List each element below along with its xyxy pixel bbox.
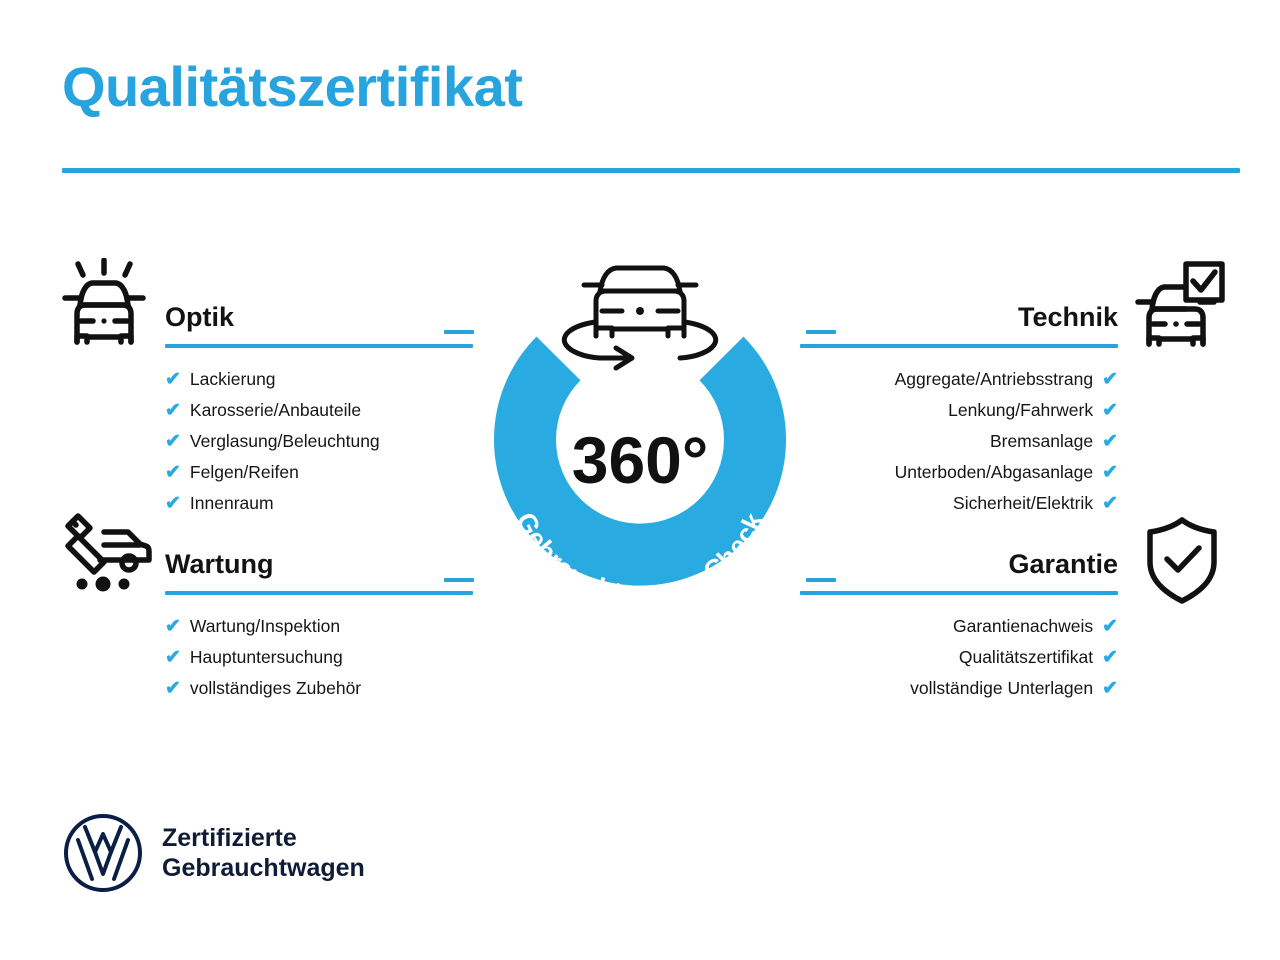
section-divider-garantie xyxy=(800,591,1118,595)
section-technik: Technik Aggregate/Antriebsstrang ✔ Lenku… xyxy=(800,300,1118,519)
section-head-technik: Technik xyxy=(800,300,1118,348)
list-item-label: Hauptuntersuchung xyxy=(190,642,343,672)
section-divider-technik xyxy=(800,344,1118,348)
list-item-label: Aggregate/Antriebsstrang xyxy=(895,364,1093,394)
list-item-label: Lackierung xyxy=(190,364,276,394)
header-divider xyxy=(62,168,1240,173)
check-icon: ✔ xyxy=(1102,643,1118,673)
list-item-label: Qualitätszertifikat xyxy=(959,642,1093,672)
list-item-label: Garantienachweis xyxy=(953,611,1093,641)
section-head-garantie: Garantie xyxy=(800,547,1118,595)
list-item-label: vollständige Unterlagen xyxy=(910,673,1093,703)
check-icon: ✔ xyxy=(165,427,181,457)
check-icon: ✔ xyxy=(165,458,181,488)
list-item: Aggregate/Antriebsstrang ✔ xyxy=(800,364,1118,395)
shield-check-icon xyxy=(1142,514,1222,606)
check-icon: ✔ xyxy=(1102,612,1118,642)
list-item-label: vollständiges Zubehör xyxy=(190,673,361,703)
check-icon: ✔ xyxy=(165,365,181,395)
car-shine-icon xyxy=(60,258,148,350)
gebrauchtwagen-check-badge: 360° Gebrauchtwagen-Check xyxy=(466,248,814,640)
list-item: Lenkung/Fahrwerk ✔ xyxy=(800,395,1118,426)
list-item: Qualitätszertifikat ✔ xyxy=(800,642,1118,673)
section-title-optik: Optik xyxy=(165,300,473,334)
list-item-label: Lenkung/Fahrwerk xyxy=(948,395,1093,425)
list-item: ✔ Lackierung xyxy=(165,364,473,395)
list-item-label: Unterboden/Abgasanlage xyxy=(895,457,1094,487)
check-icon: ✔ xyxy=(165,612,181,642)
list-item: ✔ Innenraum xyxy=(165,488,473,519)
check-icon: ✔ xyxy=(165,489,181,519)
section-head-wartung: Wartung xyxy=(165,547,473,595)
list-item: ✔ Wartung/Inspektion xyxy=(165,611,473,642)
checklist-optik: ✔ Lackierung ✔ Karosserie/Anbauteile ✔ V… xyxy=(165,364,473,519)
car-service-pen-icon xyxy=(60,508,152,594)
list-item-label: Innenraum xyxy=(190,488,274,518)
certificate-page: Qualitätszertifikat xyxy=(0,0,1280,960)
checklist-technik: Aggregate/Antriebsstrang ✔ Lenkung/Fahrw… xyxy=(800,364,1118,519)
car-checkbox-icon xyxy=(1134,258,1226,350)
list-item: ✔ Karosserie/Anbauteile xyxy=(165,395,473,426)
check-icon: ✔ xyxy=(1102,427,1118,457)
list-item-label: Karosserie/Anbauteile xyxy=(190,395,361,425)
checklist-garantie: Garantienachweis ✔ Qualitätszertifikat ✔… xyxy=(800,611,1118,704)
section-title-wartung: Wartung xyxy=(165,547,473,581)
check-icon: ✔ xyxy=(1102,489,1118,519)
check-icon: ✔ xyxy=(165,674,181,704)
checklist-wartung: ✔ Wartung/Inspektion ✔ Hauptuntersuchung… xyxy=(165,611,473,704)
footer-brand: Zertifizierte Gebrauchtwagen xyxy=(62,812,365,894)
check-icon: ✔ xyxy=(1102,396,1118,426)
list-item: ✔ Hauptuntersuchung xyxy=(165,642,473,673)
check-icon: ✔ xyxy=(165,396,181,426)
footer-line-1: Zertifizierte xyxy=(162,823,365,853)
section-divider-wartung xyxy=(165,591,473,595)
section-wartung: Wartung ✔ Wartung/Inspektion ✔ Hauptunte… xyxy=(165,547,473,704)
list-item-label: Wartung/Inspektion xyxy=(190,611,340,641)
list-item: Bremsanlage ✔ xyxy=(800,426,1118,457)
check-icon: ✔ xyxy=(1102,674,1118,704)
footer-line-2: Gebrauchtwagen xyxy=(162,853,365,883)
list-item: ✔ Verglasung/Beleuchtung xyxy=(165,426,473,457)
section-divider-optik xyxy=(165,344,473,348)
section-head-optik: Optik xyxy=(165,300,473,348)
check-icon: ✔ xyxy=(1102,458,1118,488)
page-title: Qualitätszertifikat xyxy=(62,56,522,118)
vw-logo xyxy=(62,812,144,894)
footer-text-block: Zertifizierte Gebrauchtwagen xyxy=(162,823,365,883)
list-item: ✔ vollständiges Zubehör xyxy=(165,673,473,704)
list-item-label: Felgen/Reifen xyxy=(190,457,299,487)
check-icon: ✔ xyxy=(165,643,181,673)
list-item: Unterboden/Abgasanlage ✔ xyxy=(800,457,1118,488)
list-item: Garantienachweis ✔ xyxy=(800,611,1118,642)
list-item: Sicherheit/Elektrik ✔ xyxy=(800,488,1118,519)
car-rotation-icon xyxy=(564,268,715,368)
section-title-technik: Technik xyxy=(800,300,1118,334)
list-item-label: Verglasung/Beleuchtung xyxy=(190,426,380,456)
section-optik: Optik ✔ Lackierung ✔ Karosserie/Anbautei… xyxy=(165,300,473,519)
section-title-garantie: Garantie xyxy=(800,547,1118,581)
list-item-label: Sicherheit/Elektrik xyxy=(953,488,1093,518)
list-item: ✔ Felgen/Reifen xyxy=(165,457,473,488)
section-garantie: Garantie Garantienachweis ✔ Qualitätszer… xyxy=(800,547,1118,704)
check-icon: ✔ xyxy=(1102,365,1118,395)
badge-center-value: 360° xyxy=(572,423,709,497)
list-item: vollständige Unterlagen ✔ xyxy=(800,673,1118,704)
list-item-label: Bremsanlage xyxy=(990,426,1093,456)
